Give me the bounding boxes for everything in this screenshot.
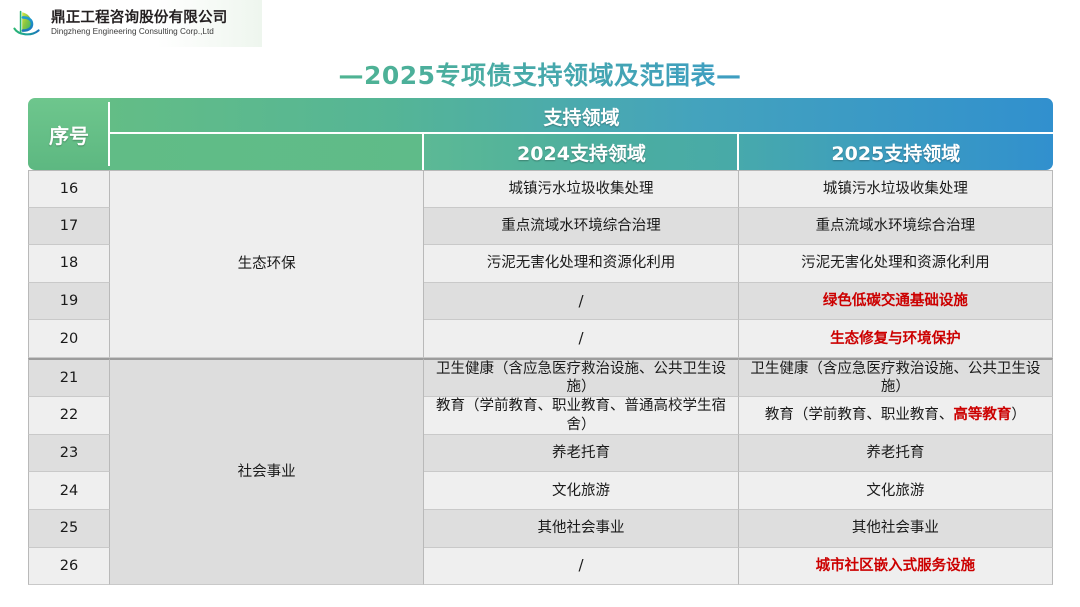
cell-index: 18: [28, 245, 110, 283]
cell-year-2025: 绿色低碳交通基础设施: [739, 283, 1053, 321]
cell-year-2025: 生态修复与环境保护: [739, 320, 1053, 358]
cell-year-2024: /: [424, 283, 738, 321]
cell-year-2024: 重点流域水环境综合治理: [424, 208, 738, 246]
header-row-years: 2024支持领域 2025支持领域: [28, 134, 1053, 170]
cell-year-2024: /: [424, 548, 738, 586]
table-head: 序号 支持领域 2024支持领域 2025支持领域: [28, 98, 1053, 170]
cell-year-2025: 其他社会事业: [739, 510, 1053, 548]
cell-index: 25: [28, 510, 110, 548]
cell-year-2024: 养老托育: [424, 435, 738, 473]
cell-text-normal: ）: [1011, 407, 1026, 423]
table-body: 16生态环保城镇污水垃圾收集处理城镇污水垃圾收集处理17重点流域水环境综合治理重…: [28, 170, 1053, 585]
cell-text-normal: 重点流域水环境综合治理: [816, 218, 976, 234]
cell-index: 21: [28, 358, 110, 397]
cell-text-highlight: 城市社区嵌入式服务设施: [816, 558, 976, 574]
brand-text: 鼎正工程咨询股份有限公司 Dingzheng Engineering Consu…: [51, 10, 227, 38]
header-row-group: 序号 支持领域: [28, 98, 1053, 134]
cell-year-2025: 教育（学前教育、职业教育、高等教育）: [739, 397, 1053, 435]
cell-year-2025: 城市社区嵌入式服务设施: [739, 548, 1053, 586]
cell-year-2024: 其他社会事业: [424, 510, 738, 548]
cell-year-2024: /: [424, 320, 738, 358]
support-scope-table: 序号 支持领域 2024支持领域 2025支持领域 16生态环保城镇污水垃圾收集…: [28, 98, 1053, 585]
brand-name-cn: 鼎正工程咨询股份有限公司: [51, 10, 227, 27]
dingzheng-logo-icon: [11, 8, 43, 40]
cell-year-2024: 城镇污水垃圾收集处理: [424, 170, 738, 208]
header-index: 序号: [28, 98, 110, 170]
cell-year-2024: 文化旅游: [424, 472, 738, 510]
cell-index: 23: [28, 435, 110, 473]
page-title: —2025专项债支持领域及范围表—: [0, 56, 1080, 92]
cell-category: 社会事业: [110, 358, 424, 585]
cell-index: 17: [28, 208, 110, 246]
table-row: 21社会事业卫生健康（含应急医疗救治设施、公共卫生设施）卫生健康（含应急医疗救治…: [28, 358, 1053, 397]
cell-text-normal: 其他社会事业: [852, 520, 939, 536]
cell-text-normal: 文化旅游: [866, 483, 924, 499]
cell-year-2025: 文化旅游: [739, 472, 1053, 510]
brand-header: 鼎正工程咨询股份有限公司 Dingzheng Engineering Consu…: [0, 0, 262, 47]
cell-index: 19: [28, 283, 110, 321]
header-year-2025: 2025支持领域: [739, 134, 1053, 170]
cell-text-normal: 卫生健康（含应急医疗救治设施、公共卫生设施）: [750, 361, 1040, 395]
cell-index: 20: [28, 320, 110, 358]
cell-year-2025: 重点流域水环境综合治理: [739, 208, 1053, 246]
cell-text-normal: 城镇污水垃圾收集处理: [823, 181, 968, 197]
brand-name-en: Dingzheng Engineering Consulting Corp.,L…: [51, 27, 227, 37]
cell-year-2024: 教育（学前教育、职业教育、普通高校学生宿舍）: [424, 397, 738, 435]
cell-year-2025: 卫生健康（含应急医疗救治设施、公共卫生设施）: [739, 358, 1053, 397]
cell-year-2025: 养老托育: [739, 435, 1053, 473]
cell-text-highlight: 生态修复与环境保护: [830, 331, 961, 347]
cell-category: 生态环保: [110, 170, 424, 358]
cell-index: 16: [28, 170, 110, 208]
cell-year-2024: 卫生健康（含应急医疗救治设施、公共卫生设施）: [424, 358, 738, 397]
cell-year-2025: 城镇污水垃圾收集处理: [739, 170, 1053, 208]
cell-index: 22: [28, 397, 110, 435]
document-page: 鼎正工程咨询股份有限公司 Dingzheng Engineering Consu…: [0, 0, 1080, 607]
header-category-blank: [110, 134, 424, 170]
cell-index: 24: [28, 472, 110, 510]
header-year-2024: 2024支持领域: [424, 134, 738, 170]
table-row: 16生态环保城镇污水垃圾收集处理城镇污水垃圾收集处理: [28, 170, 1053, 208]
cell-year-2024: 污泥无害化处理和资源化利用: [424, 245, 738, 283]
cell-text-normal: 教育（学前教育、职业教育、: [765, 407, 954, 423]
cell-text-highlight: 高等教育: [953, 407, 1011, 423]
cell-text-normal: 污泥无害化处理和资源化利用: [801, 255, 990, 271]
cell-index: 26: [28, 548, 110, 586]
cell-year-2025: 污泥无害化处理和资源化利用: [739, 245, 1053, 283]
cell-text-normal: 养老托育: [866, 445, 924, 461]
support-scope-table-wrapper: 序号 支持领域 2024支持领域 2025支持领域 16生态环保城镇污水垃圾收集…: [28, 98, 1053, 585]
header-scope-group: 支持领域: [110, 98, 1053, 134]
cell-text-highlight: 绿色低碳交通基础设施: [823, 293, 968, 309]
